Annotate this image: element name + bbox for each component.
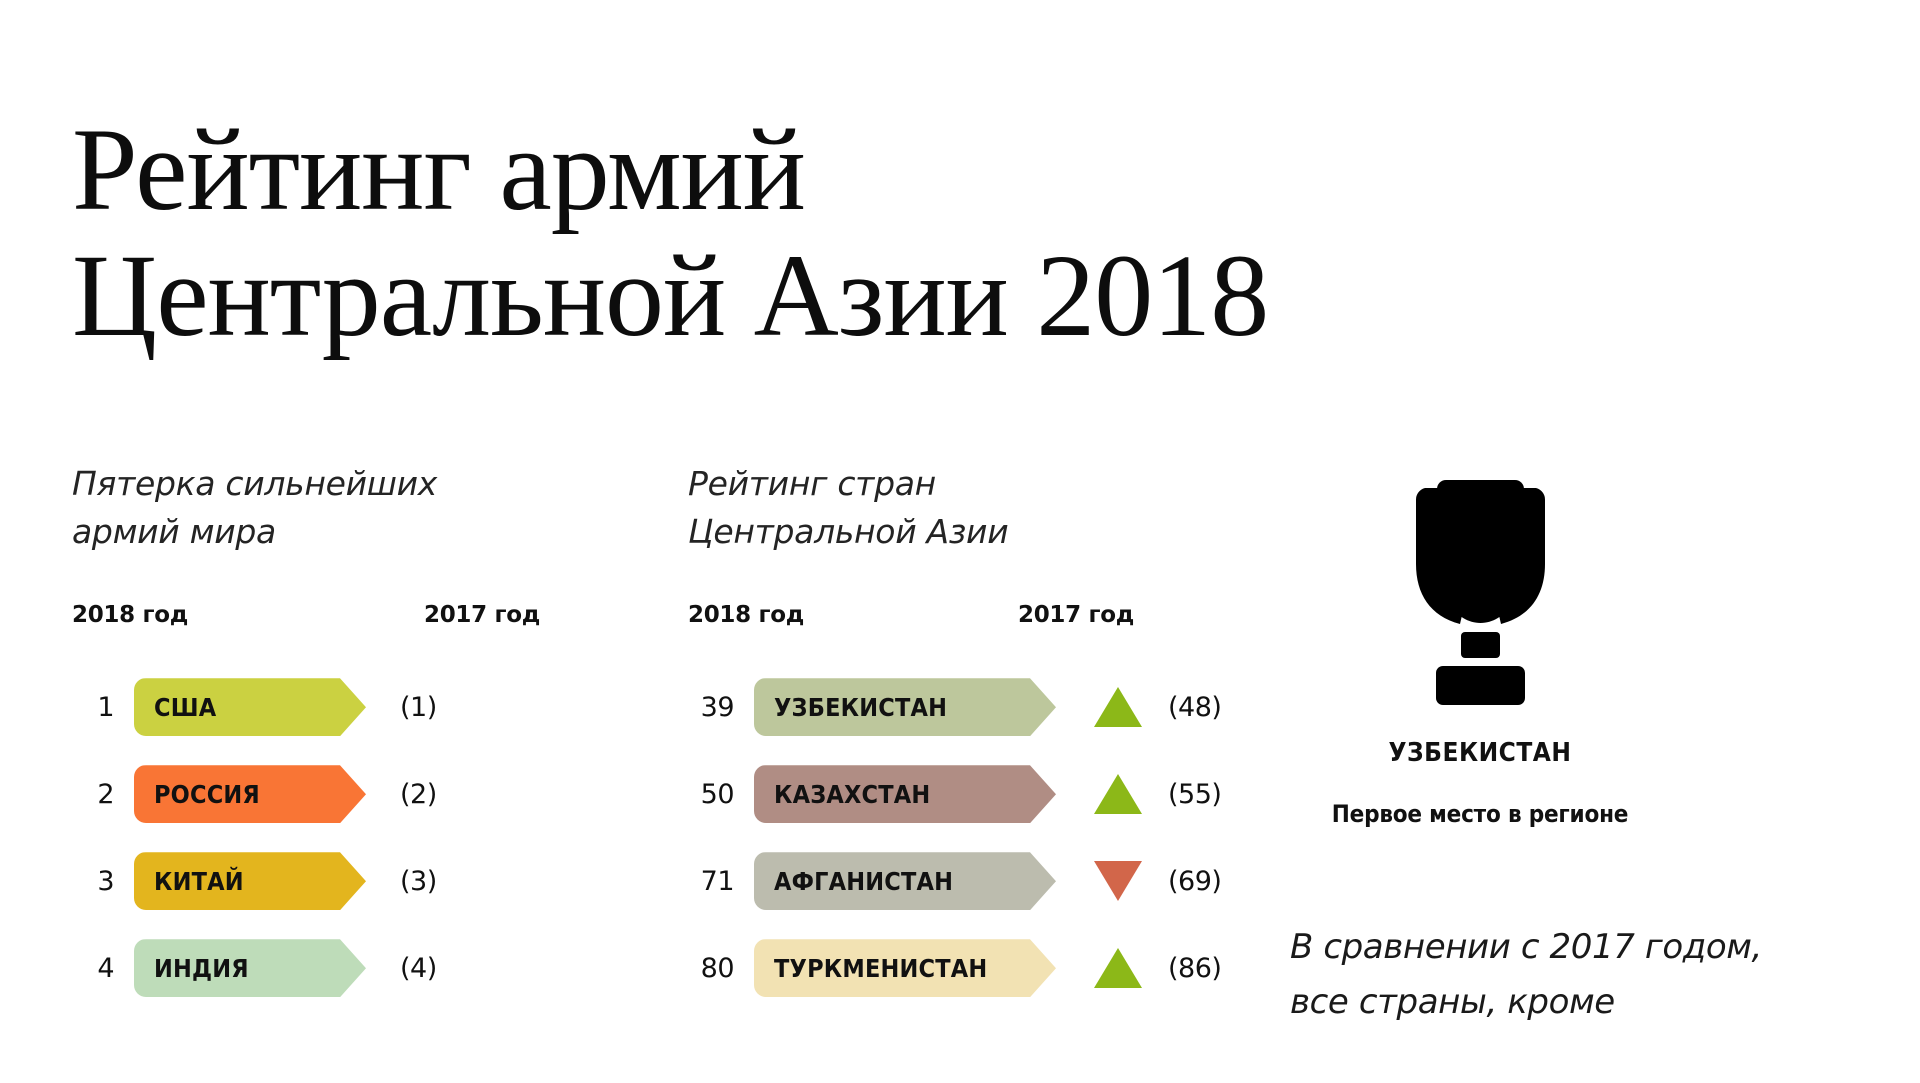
previous-year-rank: (4)	[400, 953, 437, 984]
country-label: РОССИЯ	[154, 780, 260, 809]
rank-number: 3	[72, 866, 114, 897]
trend-up-icon	[1094, 687, 1142, 727]
left-panel-year-previous-label: 2017 год	[424, 602, 540, 628]
content-columns: Пятерка сильнейших армий мира 2018 год 2…	[0, 460, 1920, 1083]
rank-number: 50	[688, 779, 734, 810]
country-bar: КИТАЙ	[134, 852, 366, 910]
panel-regional-winner: УЗБЕКИСТАН Первое место в регионе В срав…	[1290, 460, 1890, 1030]
panel-strongest-armies: Пятерка сильнейших армий мира 2018 год 2…	[72, 460, 572, 1012]
country-label: АФГАНИСТАН	[774, 867, 953, 896]
left-panel-year-current-label: 2018 год	[72, 602, 188, 628]
ranking-row: 2РОССИЯ(2)	[72, 751, 572, 838]
ranking-row: 50КАЗАХСТАН(55)	[688, 751, 1228, 838]
winner-country-name: УЗБЕКИСТАН	[1290, 738, 1670, 768]
trend-down-icon	[1094, 861, 1142, 901]
left-panel-year-headers: 2018 год 2017 год	[72, 602, 572, 632]
country-label: ТУРКМЕНИСТАН	[774, 954, 987, 983]
ranking-row: 4ИНДИЯ(4)	[72, 925, 572, 1012]
ranking-row: 71АФГАНИСТАН(69)	[688, 838, 1228, 925]
middle-panel-year-current-label: 2018 год	[688, 602, 804, 628]
rank-number: 80	[688, 953, 734, 984]
country-bar: ИНДИЯ	[134, 939, 366, 997]
previous-year-rank: (69)	[1168, 866, 1221, 897]
country-bar: РОССИЯ	[134, 765, 366, 823]
previous-year-rank: (86)	[1168, 953, 1221, 984]
rank-number: 4	[72, 953, 114, 984]
winner-card: УЗБЕКИСТАН Первое место в регионе	[1290, 460, 1670, 828]
ranking-row: 1США(1)	[72, 664, 572, 751]
left-panel-heading: Пятерка сильнейших армий мира	[72, 460, 572, 556]
ranking-row: 39УЗБЕКИСТАН(48)	[688, 664, 1228, 751]
rank-number: 2	[72, 779, 114, 810]
trend-up-icon	[1094, 774, 1142, 814]
middle-panel-heading: Рейтинг стран Центральной Азии	[688, 460, 1228, 556]
previous-year-rank: (1)	[400, 692, 437, 723]
country-bar: УЗБЕКИСТАН	[754, 678, 1056, 736]
country-bar: ТУРКМЕНИСТАН	[754, 939, 1056, 997]
left-panel-ranking-list: 1США(1)2РОССИЯ(2)3КИТАЙ(3)4ИНДИЯ(4)	[72, 664, 572, 1012]
country-bar: КАЗАХСТАН	[754, 765, 1056, 823]
previous-year-rank: (3)	[400, 866, 437, 897]
previous-year-rank: (48)	[1168, 692, 1221, 723]
page-title: Рейтинг армий Центральной Азии 2018	[72, 107, 1772, 360]
middle-panel-ranking-list: 39УЗБЕКИСТАН(48)50КАЗАХСТАН(55)71АФГАНИС…	[688, 664, 1228, 1012]
trend-up-icon	[1094, 948, 1142, 988]
previous-year-rank: (2)	[400, 779, 437, 810]
middle-panel-year-previous-label: 2017 год	[1018, 602, 1134, 628]
country-label: КАЗАХСТАН	[774, 780, 930, 809]
winner-subtitle: Первое место в регионе	[1290, 800, 1670, 828]
country-bar: США	[134, 678, 366, 736]
ranking-row: 3КИТАЙ(3)	[72, 838, 572, 925]
country-label: США	[154, 693, 216, 722]
country-label: ИНДИЯ	[154, 954, 249, 983]
trophy-icon	[1290, 460, 1670, 710]
rank-number: 71	[688, 866, 734, 897]
middle-panel-year-headers: 2018 год 2017 год	[688, 602, 1228, 632]
panel-central-asia-ranking: Рейтинг стран Центральной Азии 2018 год …	[688, 460, 1228, 1012]
previous-year-rank: (55)	[1168, 779, 1221, 810]
country-label: КИТАЙ	[154, 867, 244, 896]
comparison-summary-note: В сравнении с 2017 годом, все страны, кр…	[1290, 920, 1850, 1030]
country-bar: АФГАНИСТАН	[754, 852, 1056, 910]
country-label: УЗБЕКИСТАН	[774, 693, 947, 722]
rank-number: 39	[688, 692, 734, 723]
rank-number: 1	[72, 692, 114, 723]
ranking-row: 80ТУРКМЕНИСТАН(86)	[688, 925, 1228, 1012]
